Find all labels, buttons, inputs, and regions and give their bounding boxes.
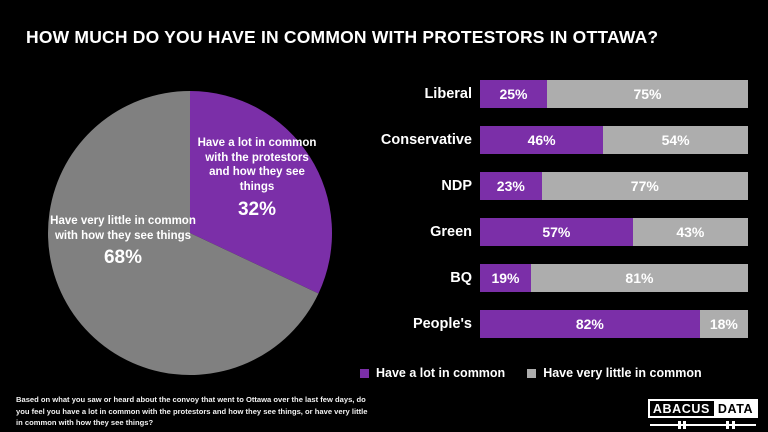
bar-category-label: NDP [330,172,472,200]
bar-segment-value: 77% [631,178,659,194]
bar-track: 25%75% [480,80,748,108]
bar-segment: 77% [542,172,748,200]
chart-legend: Have a lot in commonHave very little in … [360,366,702,380]
bar-segment: 25% [480,80,547,108]
bar-segment-value: 57% [542,224,570,240]
pie-chart-svg [47,90,333,376]
abacus-data-logo: ABACUS DATA [648,399,758,429]
bar-segment-value: 43% [676,224,704,240]
bar-track: 19%81% [480,264,748,292]
bar-segment-value: 25% [499,86,527,102]
bar-segment-value: 19% [491,270,519,286]
legend-item: Have a lot in common [360,366,505,380]
bar-row: Liberal25%75% [330,80,750,108]
stacked-bar-chart: Liberal25%75%Conservative46%54%NDP23%77%… [330,80,750,338]
logo-word-abacus: ABACUS [649,402,714,416]
legend-swatch-icon [360,369,369,378]
bar-track: 57%43% [480,218,748,246]
bar-category-label: People's [330,310,472,338]
bead [678,421,681,429]
bar-category-label: BQ [330,264,472,292]
bar-track: 46%54% [480,126,748,154]
logo-wordmark: ABACUS DATA [648,399,758,418]
bead [732,421,735,429]
logo-word-data: DATA [714,401,757,417]
bar-row: Green57%43% [330,218,750,246]
page-title: HOW MUCH DO YOU HAVE IN COMMON WITH PROT… [26,27,658,48]
bar-segment: 57% [480,218,633,246]
bead [683,421,686,429]
bead [726,421,729,429]
legend-swatch-icon [527,369,536,378]
slide-canvas: HOW MUCH DO YOU HAVE IN COMMON WITH PROT… [0,0,768,432]
bar-segment-value: 23% [497,178,525,194]
bar-segment-value: 75% [633,86,661,102]
bar-segment: 46% [480,126,603,154]
bar-segment-value: 18% [710,316,738,332]
bar-segment: 23% [480,172,542,200]
pie-chart: Have a lot in common with the protestors… [47,90,333,376]
bar-track: 82%18% [480,310,748,338]
bead-rail [650,424,756,426]
bar-segment-value: 46% [528,132,556,148]
bar-segment: 82% [480,310,700,338]
legend-item: Have very little in common [527,366,701,380]
bar-row: BQ19%81% [330,264,750,292]
bar-segment: 43% [633,218,748,246]
abacus-beads-icon [648,421,758,429]
question-footnote: Based on what you saw or heard about the… [16,394,376,429]
bar-row: Conservative46%54% [330,126,750,154]
bar-segment: 75% [547,80,748,108]
bar-segment: 54% [603,126,748,154]
bar-category-label: Liberal [330,80,472,108]
bar-category-label: Green [330,218,472,246]
bar-segment: 18% [700,310,748,338]
legend-label: Have a lot in common [376,366,505,380]
bar-segment-value: 54% [662,132,690,148]
bar-segment: 19% [480,264,531,292]
bar-segment-value: 82% [576,316,604,332]
bar-track: 23%77% [480,172,748,200]
bar-segment-value: 81% [625,270,653,286]
bar-row: People's82%18% [330,310,750,338]
legend-label: Have very little in common [543,366,701,380]
bar-segment: 81% [531,264,748,292]
bar-row: NDP23%77% [330,172,750,200]
bar-category-label: Conservative [330,126,472,154]
